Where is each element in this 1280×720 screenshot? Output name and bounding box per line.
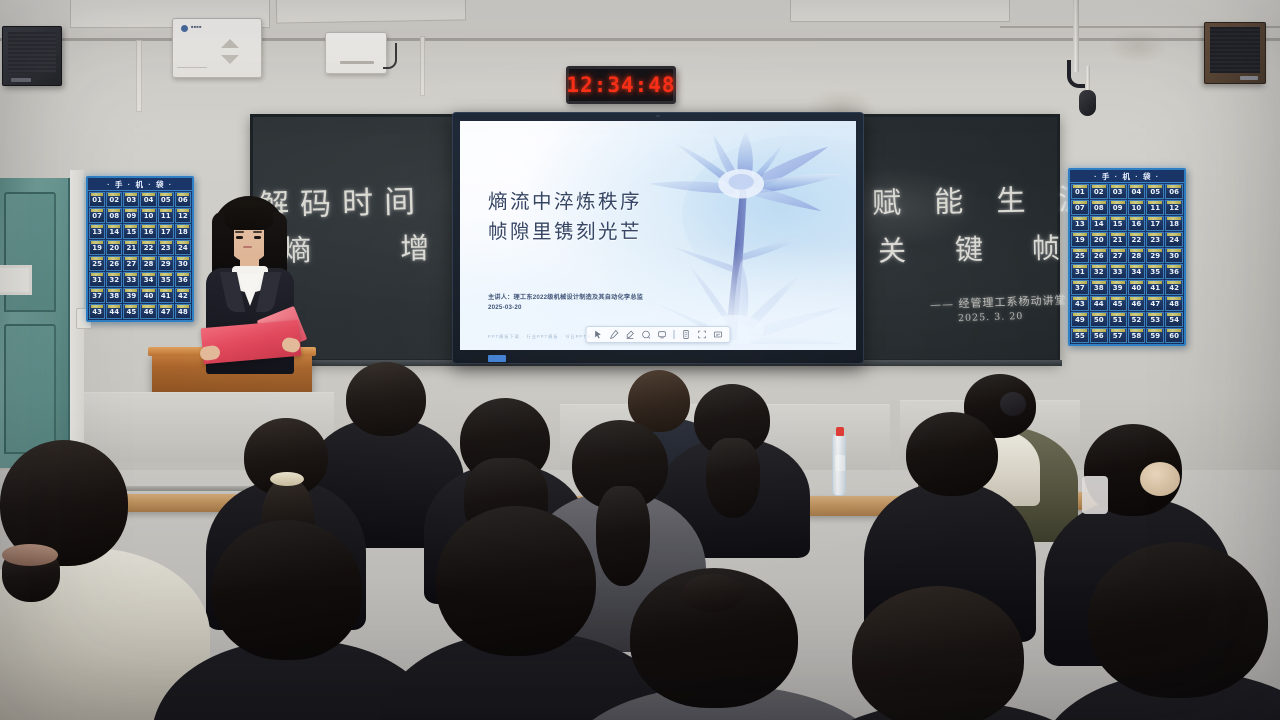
- classroom-door[interactable]: [0, 178, 72, 468]
- face-mask: [1082, 476, 1108, 514]
- phone-pocket[interactable]: 29: [1146, 248, 1164, 263]
- slide-title-line1: 熵流中淬炼秩序: [488, 187, 642, 217]
- phone-pocket[interactable]: 32: [106, 272, 122, 287]
- phone-pocket[interactable]: 43: [1071, 296, 1089, 311]
- device-cable: [383, 43, 397, 69]
- phone-pocket[interactable]: 47: [1146, 296, 1164, 311]
- brand-label: ■■■■: [191, 24, 202, 29]
- pocket-organizer-header: · 手 · 机 · 袋 ·: [1070, 170, 1184, 183]
- audience-head: [1088, 542, 1268, 698]
- cursor-icon[interactable]: [594, 330, 603, 339]
- phone-pocket[interactable]: 34: [140, 272, 156, 287]
- display-brand-logo: [488, 355, 506, 362]
- phone-pocket[interactable]: 22: [1128, 232, 1146, 247]
- phone-pocket[interactable]: 36: [1165, 264, 1183, 279]
- audience-ponytail: [596, 486, 650, 586]
- brand-dot-icon: [181, 25, 188, 32]
- phone-pocket[interactable]: 15: [1109, 216, 1127, 231]
- phone-pocket[interactable]: 46: [1128, 296, 1146, 311]
- phone-pocket[interactable]: 31: [89, 272, 105, 287]
- phone-pocket[interactable]: 06: [1165, 184, 1183, 199]
- phone-pocket[interactable]: 44: [1090, 296, 1108, 311]
- phone-pocket[interactable]: 50: [1090, 312, 1108, 327]
- phone-pocket[interactable]: 25: [89, 256, 105, 271]
- phone-pocket[interactable]: 27: [123, 256, 139, 271]
- phone-pocket[interactable]: 21: [123, 240, 139, 255]
- audience-head: [436, 506, 596, 656]
- phone-pocket[interactable]: 60: [1165, 328, 1183, 343]
- phone-pocket[interactable]: 08: [1090, 200, 1108, 215]
- phone-pocket-organizer-right: · 手 · 机 · 袋 · 01020304050607080910111213…: [1068, 168, 1186, 346]
- phone-pocket[interactable]: 24: [1165, 232, 1183, 247]
- phone-pocket[interactable]: 44: [106, 304, 122, 319]
- audience-ponytail: [706, 438, 760, 518]
- phone-pocket[interactable]: 10: [140, 208, 156, 223]
- phone-pocket[interactable]: 33: [1109, 264, 1127, 279]
- phone-pocket[interactable]: 55: [1071, 328, 1089, 343]
- note-icon[interactable]: [682, 330, 691, 339]
- phone-pocket[interactable]: 26: [1090, 248, 1108, 263]
- phone-pocket[interactable]: 08: [106, 208, 122, 223]
- phone-pocket[interactable]: 41: [1146, 280, 1164, 295]
- phone-pocket[interactable]: 35: [1146, 264, 1164, 279]
- phone-pocket[interactable]: 20: [106, 240, 122, 255]
- spotlight-icon[interactable]: [658, 330, 667, 339]
- audience-head: [906, 412, 998, 496]
- wall-stain: [1108, 28, 1168, 64]
- phone-pocket[interactable]: 47: [158, 304, 174, 319]
- phone-pocket[interactable]: 09: [1109, 200, 1127, 215]
- phone-pocket[interactable]: 30: [1165, 248, 1183, 263]
- led-wall-clock: 12:34:48: [566, 66, 676, 104]
- phone-pocket[interactable]: 28: [140, 256, 156, 271]
- blackboard-date: 2025. 3. 20: [958, 311, 1024, 324]
- camera-icon: [656, 115, 660, 117]
- clock-time: 12:34:48: [566, 73, 675, 97]
- slide-footnote: PPT模板下载 · 行业PPT模板 · 节日PPT模板: [488, 334, 597, 340]
- presenter-eye-left: [236, 236, 243, 239]
- phone-pocket[interactable]: 12: [1165, 200, 1183, 215]
- interactive-smart-display[interactable]: 熵流中淬炼秩序 帧隙里镌刻光芒 主讲人：理工东2022级机械设计制造及其自动化李…: [452, 112, 864, 364]
- presenter-brow-right: [253, 231, 262, 233]
- phone-pocket[interactable]: 32: [1090, 264, 1108, 279]
- blackboard-text-right-line2: 关 键 帧: [878, 226, 1080, 270]
- pocket-organizer-header: · 手 · 机 · 袋 ·: [88, 178, 192, 191]
- phone-pocket[interactable]: 20: [1090, 232, 1108, 247]
- phone-pocket[interactable]: 45: [1109, 296, 1127, 311]
- door-panel-lower: [4, 324, 56, 454]
- phone-pocket[interactable]: 41: [158, 288, 174, 303]
- phone-pocket[interactable]: 49: [1071, 312, 1089, 327]
- wireless-access-point: [325, 32, 387, 74]
- slide-title: 熵流中淬炼秩序 帧隙里镌刻光芒: [488, 187, 642, 247]
- slide-metadata: 主讲人：理工东2022级机械设计制造及其自动化李总监 2025-03-20: [488, 293, 643, 313]
- arrow-up-icon[interactable]: [221, 39, 239, 48]
- phone-pocket[interactable]: 22: [140, 240, 156, 255]
- phone-pocket[interactable]: 28: [1128, 248, 1146, 263]
- phone-pocket[interactable]: 01: [1071, 184, 1089, 199]
- scrunchie: [1140, 462, 1180, 496]
- phone-pocket[interactable]: 13: [1071, 216, 1089, 231]
- phone-pocket[interactable]: 37: [1071, 280, 1089, 295]
- ceiling-microphone-icon: [1079, 90, 1096, 116]
- audience-head: [212, 520, 362, 660]
- phone-pocket[interactable]: 51: [1109, 312, 1127, 327]
- door-window: [0, 265, 32, 295]
- phone-pocket[interactable]: 27: [1109, 248, 1127, 263]
- speaker-badge: [1240, 76, 1258, 80]
- phone-pocket[interactable]: 05: [158, 192, 174, 207]
- phone-pocket[interactable]: 57: [1109, 328, 1127, 343]
- presenter-brow-left: [235, 231, 244, 233]
- arrow-down-icon[interactable]: [221, 55, 239, 64]
- phone-pocket[interactable]: 38: [106, 288, 122, 303]
- audience-head: [346, 362, 426, 436]
- phone-pocket[interactable]: 03: [1109, 184, 1127, 199]
- phone-pocket[interactable]: 53: [1146, 312, 1164, 327]
- phone-pocket-organizer-left: · 手 · 机 · 袋 · 01020304050607080910111213…: [86, 176, 194, 322]
- microphone-pole-lower: [1085, 66, 1090, 92]
- phone-pocket[interactable]: 04: [140, 192, 156, 207]
- phone-pocket[interactable]: 02: [1090, 184, 1108, 199]
- phone-pocket[interactable]: 54: [1165, 312, 1183, 327]
- phone-pocket[interactable]: 07: [1071, 200, 1089, 215]
- phone-pocket[interactable]: 18: [1165, 216, 1183, 231]
- phone-pocket[interactable]: 04: [1128, 184, 1146, 199]
- phone-pocket[interactable]: 13: [89, 224, 105, 239]
- highlighter-icon[interactable]: [626, 330, 635, 339]
- phone-pocket[interactable]: 21: [1109, 232, 1127, 247]
- phone-pocket[interactable]: 02: [106, 192, 122, 207]
- slide-presenter-line: 主讲人：理工东2022级机械设计制造及其自动化李总监: [488, 293, 643, 303]
- wall-conduit: [420, 36, 425, 96]
- phone-pocket[interactable]: 39: [123, 288, 139, 303]
- phone-pocket[interactable]: 33: [123, 272, 139, 287]
- wall-conduit: [136, 40, 142, 112]
- panel-seam: [177, 67, 207, 68]
- phone-pocket[interactable]: 19: [89, 240, 105, 255]
- wall-speaker-left: [2, 26, 62, 86]
- presenter-hair-front: [224, 200, 274, 230]
- slide-title-line2: 帧隙里镌刻光芒: [488, 217, 642, 247]
- hair-clip: [1000, 392, 1026, 416]
- phone-pocket[interactable]: 26: [106, 256, 122, 271]
- phone-pocket[interactable]: 16: [1128, 216, 1146, 231]
- ceiling-panel: [790, 0, 1010, 22]
- projector-control-unit[interactable]: ■■■■: [172, 18, 262, 78]
- pen-icon[interactable]: [610, 330, 619, 339]
- toolbar-separator: [674, 330, 675, 339]
- phone-pocket[interactable]: 45: [123, 304, 139, 319]
- phone-pocket[interactable]: 29: [158, 256, 174, 271]
- phone-pocket[interactable]: 14: [1090, 216, 1108, 231]
- phone-pocket[interactable]: 03: [123, 192, 139, 207]
- phone-pocket[interactable]: 15: [123, 224, 139, 239]
- screenshot-icon[interactable]: [698, 330, 707, 339]
- speaker-grill: [8, 32, 56, 73]
- presenter-eye-right: [254, 236, 261, 239]
- phone-pocket[interactable]: 46: [140, 304, 156, 319]
- speaker-grill: [1210, 27, 1260, 73]
- phone-pocket[interactable]: 52: [1128, 312, 1146, 327]
- phone-pocket[interactable]: 25: [1071, 248, 1089, 263]
- pocket-grid: 0102030405060708091011121314151617181920…: [88, 191, 192, 320]
- speaker-badge: [11, 78, 31, 82]
- eraser-icon[interactable]: [642, 330, 651, 339]
- phone-pocket[interactable]: 35: [158, 272, 174, 287]
- phone-pocket[interactable]: 40: [1128, 280, 1146, 295]
- phone-pocket[interactable]: 43: [89, 304, 105, 319]
- phone-pocket[interactable]: 14: [106, 224, 122, 239]
- phone-pocket[interactable]: 17: [1146, 216, 1164, 231]
- device-label-bar: [340, 61, 374, 64]
- more-icon[interactable]: [714, 330, 723, 339]
- phone-pocket[interactable]: 19: [1071, 232, 1089, 247]
- wall-speaker-right: [1204, 22, 1266, 84]
- phone-pocket[interactable]: 42: [1165, 280, 1183, 295]
- phone-pocket[interactable]: 39: [1109, 280, 1127, 295]
- audience-head: [852, 586, 1024, 720]
- phone-pocket[interactable]: 38: [1090, 280, 1108, 295]
- phone-pocket[interactable]: 11: [158, 208, 174, 223]
- phone-pocket[interactable]: 40: [140, 288, 156, 303]
- phone-pocket[interactable]: 34: [1128, 264, 1146, 279]
- phone-pocket[interactable]: 10: [1128, 200, 1146, 215]
- phone-pocket[interactable]: 17: [158, 224, 174, 239]
- slide-date: 2025-03-20: [488, 303, 643, 313]
- hair-bun: [682, 574, 744, 612]
- phone-pocket[interactable]: 16: [140, 224, 156, 239]
- scrunchie: [2, 544, 58, 566]
- phone-pocket[interactable]: 11: [1146, 200, 1164, 215]
- presentation-slide: 熵流中淬炼秩序 帧隙里镌刻光芒 主讲人：理工东2022级机械设计制造及其自动化李…: [460, 121, 856, 350]
- phone-pocket[interactable]: 23: [158, 240, 174, 255]
- presenter: [186, 196, 312, 374]
- water-bottle: [832, 434, 846, 496]
- phone-pocket[interactable]: 31: [1071, 264, 1089, 279]
- annotation-toolbar[interactable]: [586, 326, 731, 343]
- phone-pocket[interactable]: 59: [1146, 328, 1164, 343]
- phone-pocket[interactable]: 37: [89, 288, 105, 303]
- ceiling-panel: [276, 0, 466, 24]
- blackboard-text-right-line1: 赋 能 生 涯: [872, 176, 1100, 222]
- phone-pocket[interactable]: 56: [1090, 328, 1108, 343]
- phone-pocket[interactable]: 58: [1128, 328, 1146, 343]
- hair-tie: [270, 472, 304, 486]
- phone-pocket[interactable]: 05: [1146, 184, 1164, 199]
- pocket-grid: 0102030405060708091011121314151617181920…: [1070, 183, 1184, 344]
- classroom-scene: ■■■■ 12:34:48 解码时间 熵 增 赋 能 生 涯 关 键 帧 —— …: [0, 0, 1280, 720]
- phone-pocket[interactable]: 23: [1146, 232, 1164, 247]
- phone-pocket[interactable]: 01: [89, 192, 105, 207]
- phone-pocket[interactable]: 48: [1165, 296, 1183, 311]
- phone-pocket[interactable]: 09: [123, 208, 139, 223]
- phone-pocket[interactable]: 07: [89, 208, 105, 223]
